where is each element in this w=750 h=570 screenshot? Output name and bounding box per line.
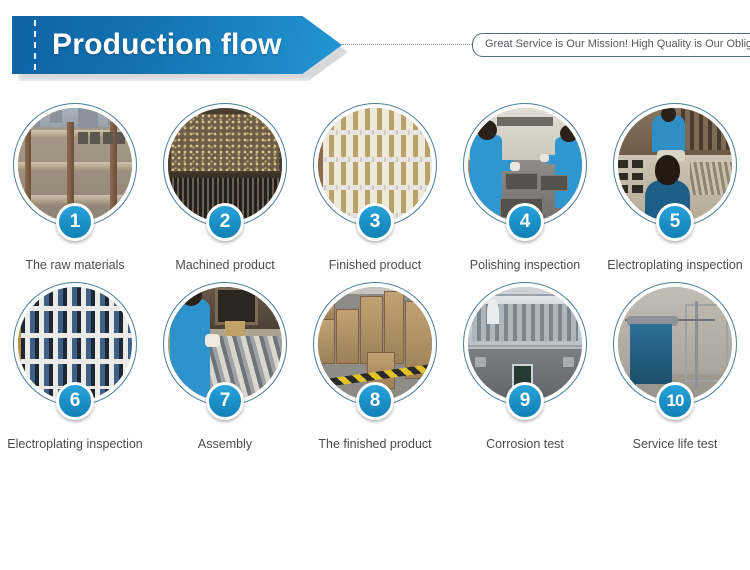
step-number-badge: 9 (506, 382, 544, 420)
step-photo-8: 8 (313, 282, 437, 406)
step-number-badge: 10 (656, 382, 694, 420)
step-label: Polishing inspection (450, 257, 600, 273)
step-photo-3: 3 (313, 103, 437, 227)
tagline-pill: Great Service is Our Mission! High Quali… (472, 33, 750, 57)
step-photo-6: 6 (13, 282, 137, 406)
step-photo-1: 1 (13, 103, 137, 227)
dotted-connector-line (342, 44, 476, 45)
banner-dashed-divider (34, 20, 36, 70)
step-photo-10: 10 (613, 282, 737, 406)
step-photo-4: 4 (463, 103, 587, 227)
step-row-2: 6 Electroplating inspection (0, 282, 750, 452)
step-label: The finished product (300, 436, 450, 452)
step-number-badge: 4 (506, 203, 544, 241)
step-number-badge: 1 (56, 203, 94, 241)
page-title: Production flow (52, 16, 282, 74)
step-card-6[interactable]: 6 Electroplating inspection (0, 282, 150, 452)
step-photo-9: 9 (463, 282, 587, 406)
step-label: Machined product (150, 257, 300, 273)
step-card-10[interactable]: 10 Service life test (600, 282, 750, 452)
step-card-9[interactable]: 9 Corrosion test (450, 282, 600, 452)
step-number-badge: 8 (356, 382, 394, 420)
step-label: The raw materials (0, 257, 150, 273)
step-card-3[interactable]: 3 Finished product (300, 103, 450, 273)
step-label: Electroplating inspection (600, 257, 750, 273)
production-flow-banner: Production flow (12, 16, 342, 74)
step-card-2[interactable]: 2 Machined product (150, 103, 300, 273)
step-label: Assembly (150, 436, 300, 452)
step-number-badge: 3 (356, 203, 394, 241)
step-number-badge: 5 (656, 203, 694, 241)
step-label: Finished product (300, 257, 450, 273)
step-label: Electroplating inspection (0, 436, 150, 452)
step-label: Service life test (600, 436, 750, 452)
step-card-4[interactable]: 4 Polishing inspection (450, 103, 600, 273)
step-photo-2: 2 (163, 103, 287, 227)
step-card-8[interactable]: 8 The finished product (300, 282, 450, 452)
step-row-1: 1 The raw materials 2 Machined pro (0, 103, 750, 273)
step-photo-7: 7 (163, 282, 287, 406)
step-card-5[interactable]: 5 Electroplating inspection (600, 103, 750, 273)
production-step-grid: 1 The raw materials 2 Machined pro (0, 103, 750, 452)
step-number-badge: 2 (206, 203, 244, 241)
step-photo-5: 5 (613, 103, 737, 227)
step-card-1[interactable]: 1 The raw materials (0, 103, 150, 273)
step-number-badge: 6 (56, 382, 94, 420)
page-header: Production flow Great Service is Our Mis… (0, 0, 750, 95)
step-label: Corrosion test (450, 436, 600, 452)
step-card-7[interactable]: 7 Assembly (150, 282, 300, 452)
step-number-badge: 7 (206, 382, 244, 420)
